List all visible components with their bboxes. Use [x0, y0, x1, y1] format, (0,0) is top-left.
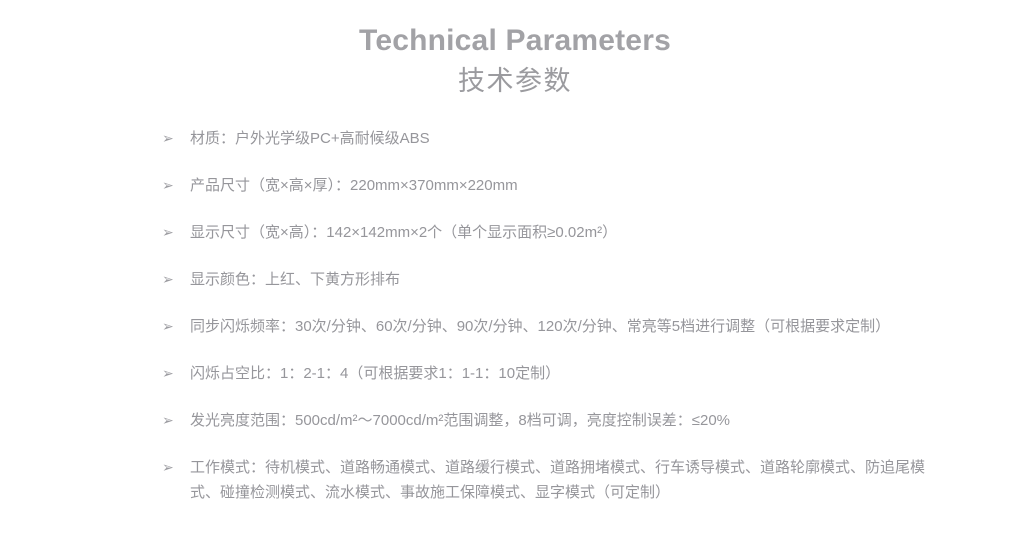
arrow-bullet-icon: ➢: [162, 220, 190, 245]
spec-item: ➢产品尺寸（宽×高×厚）：220mm×370mm×220mm: [162, 173, 932, 198]
spec-list: ➢材质：户外光学级PC+高耐候级ABS➢产品尺寸（宽×高×厚）：220mm×37…: [162, 126, 932, 505]
arrow-bullet-icon: ➢: [162, 361, 190, 386]
page-title-english: Technical Parameters: [0, 22, 1030, 60]
technical-parameters-page: Technical Parameters 技术参数 ➢材质：户外光学级PC+高耐…: [0, 0, 1030, 535]
spec-item: ➢显示颜色：上红、下黄方形排布: [162, 267, 932, 292]
spec-item: ➢同步闪烁频率：30次/分钟、60次/分钟、90次/分钟、120次/分钟、常亮等…: [162, 314, 932, 339]
spec-item-text: 显示尺寸（宽×高）：142×142mm×2个（单个显示面积≥0.02m²）: [190, 220, 932, 245]
spec-item: ➢工作模式：待机模式、道路畅通模式、道路缓行模式、道路拥堵模式、行车诱导模式、道…: [162, 455, 932, 505]
spec-item-text: 显示颜色：上红、下黄方形排布: [190, 267, 932, 292]
spec-item-text: 发光亮度范围：500cd/m²～7000cd/m²范围调整，8档可调，亮度控制误…: [190, 408, 932, 433]
spec-item: ➢闪烁占空比：1：2-1：4（可根据要求1：1-1：10定制）: [162, 361, 932, 386]
arrow-bullet-icon: ➢: [162, 314, 190, 339]
spec-item-text: 闪烁占空比：1：2-1：4（可根据要求1：1-1：10定制）: [190, 361, 932, 386]
arrow-bullet-icon: ➢: [162, 173, 190, 198]
arrow-bullet-icon: ➢: [162, 455, 190, 480]
arrow-bullet-icon: ➢: [162, 267, 190, 292]
spec-item: ➢材质：户外光学级PC+高耐候级ABS: [162, 126, 932, 151]
spec-item-text: 工作模式：待机模式、道路畅通模式、道路缓行模式、道路拥堵模式、行车诱导模式、道路…: [190, 455, 932, 505]
spec-item: ➢发光亮度范围：500cd/m²～7000cd/m²范围调整，8档可调，亮度控制…: [162, 408, 932, 433]
spec-item-text: 材质：户外光学级PC+高耐候级ABS: [190, 126, 932, 151]
spec-item: ➢显示尺寸（宽×高）：142×142mm×2个（单个显示面积≥0.02m²）: [162, 220, 932, 245]
arrow-bullet-icon: ➢: [162, 408, 190, 433]
page-title-chinese: 技术参数: [0, 64, 1030, 99]
arrow-bullet-icon: ➢: [162, 126, 190, 151]
spec-item-text: 产品尺寸（宽×高×厚）：220mm×370mm×220mm: [190, 173, 932, 198]
page-header: Technical Parameters 技术参数: [0, 0, 1030, 99]
spec-item-text: 同步闪烁频率：30次/分钟、60次/分钟、90次/分钟、120次/分钟、常亮等5…: [190, 314, 932, 339]
